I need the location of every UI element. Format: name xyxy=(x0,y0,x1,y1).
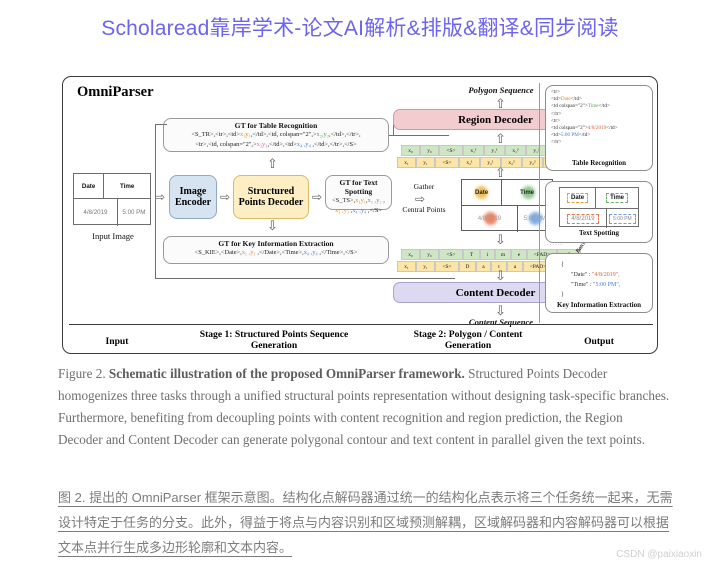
arrow-points-to-content-tokens: ⇩ xyxy=(495,233,506,246)
connector-bottom-feed xyxy=(155,278,455,279)
gt-table-recognition-line1: <S_TR>,<tr>,<td>x₁y₁,</td>,<td, colspan=… xyxy=(167,131,385,140)
kie-line-date: "Date" : "4/8/2019", xyxy=(555,270,647,280)
token: x₁¹ xyxy=(463,145,484,156)
caption-bold: Schematic illustration of the proposed O… xyxy=(109,366,465,381)
arrow-down-to-gt-kie: ⇩ xyxy=(267,219,278,232)
tr-line-3: <td colspan="2">Time</td> xyxy=(551,103,647,110)
point-cell-time-value-text: 5:00 PM xyxy=(524,216,546,222)
gather-label: Gather xyxy=(393,182,455,191)
token: y₁ xyxy=(416,261,435,272)
output-table-recognition-code: <tr> <td>Date</td> <td colspan="2">Time<… xyxy=(547,86,651,150)
spotting-chip-time: Time xyxy=(606,193,628,203)
structured-points-decoder-block: Structured Points Decoder xyxy=(233,175,309,219)
spotting-cell-time: Time xyxy=(596,188,638,209)
connector-spine-left xyxy=(155,124,156,279)
tr-line-4: </tr> xyxy=(551,111,647,118)
connector-right-table xyxy=(389,135,449,136)
arrow-spd-to-text-spotting: ⇨ xyxy=(312,191,322,203)
arrow-points-to-polygon-tokens: ⇧ xyxy=(495,166,506,179)
input-cell-date-header: Date xyxy=(74,174,104,199)
figure-caption: Figure 2. Schematic illustration of the … xyxy=(58,363,670,451)
spotting-chip-date: Date xyxy=(567,193,588,203)
token: y₁ xyxy=(416,157,435,168)
tr-line-5: <tr> xyxy=(551,118,647,125)
tr-line-1: <tr> xyxy=(551,89,647,96)
arrow-content-decoder-out: ⇩ xyxy=(495,304,506,317)
spd-label-line2: Points Decoder xyxy=(239,197,304,209)
input-image-table: Date Time 4/8/2019 5:00 PM xyxy=(73,173,151,225)
point-cell-date: Date xyxy=(462,180,502,206)
stage1-line1: Stage 1: Structured Points Sequence xyxy=(163,329,385,340)
token: <S> xyxy=(435,157,459,168)
token: <S> xyxy=(439,145,463,156)
arrow-gather: ⇨ xyxy=(415,193,425,205)
stage-label-input: Input xyxy=(75,336,159,347)
spotting-cell-time-value: 5:00 PM xyxy=(607,209,638,228)
central-points-label: Central Points xyxy=(389,205,459,214)
token: e xyxy=(511,249,527,260)
token: y₁¹ xyxy=(484,145,505,156)
content-sequence-label: Content Sequence xyxy=(401,317,601,327)
watermark: CSDN @paixiaoxin xyxy=(616,549,702,560)
gt-text-spotting-box: GT for Text Spotting <S_TS>,x₁y₁,x₂ ,y₂ … xyxy=(325,175,392,210)
caption-prefix: Figure 2. xyxy=(58,366,109,381)
output-table-recognition-caption: Table Recognition xyxy=(545,159,653,167)
token: x₁ xyxy=(397,157,416,168)
spotting-chip-date-value: 4/8/2019 xyxy=(567,214,598,224)
kie-close-brace: } xyxy=(555,290,647,300)
token: i xyxy=(480,249,495,260)
kie-line-time: "Time" : "5:00 PM", xyxy=(555,280,647,290)
token: a xyxy=(507,261,523,272)
spotting-cell-date-value: 4/8/2019 xyxy=(560,209,607,228)
token: y₁² xyxy=(526,145,547,156)
stage-label-output: Output xyxy=(557,336,641,347)
image-encoder-label-line1: Image xyxy=(180,186,207,198)
token: x₁ xyxy=(397,261,416,272)
token: m xyxy=(495,249,511,260)
tr-line-6: <td colspan="2">4/8/2019</td> xyxy=(551,125,647,132)
token: x₀ xyxy=(401,145,420,156)
gt-text-spotting-title: GT for Text Spotting xyxy=(329,178,388,196)
point-cell-date-value: 4/8/2019 xyxy=(462,206,518,232)
token: y₀ xyxy=(420,249,439,260)
input-cell-time-header: Time xyxy=(104,174,150,199)
kie-open-brace: { xyxy=(555,260,647,270)
tr-line-7: <td>5:00 PM</td> xyxy=(551,132,647,139)
spd-label-line1: Structured xyxy=(248,186,294,198)
figure-caption-chinese: 图 2. 提出的 OmniParser 框架示意图。结构化点解码器通过统一的结构… xyxy=(58,485,674,560)
spotting-cell-date: Date xyxy=(560,188,596,209)
point-cell-date-text: Date xyxy=(475,190,488,196)
token: <S> xyxy=(435,261,459,272)
output-kie-code: { "Date" : "4/8/2019", "Time" : "5:00 PM… xyxy=(551,257,651,303)
token: <S> xyxy=(439,249,463,260)
point-cell-date-value-text: 4/8/2019 xyxy=(478,216,501,222)
arrow-encoder-to-spd: ⇨ xyxy=(220,191,230,203)
image-encoder-label-line2: Encoder xyxy=(175,197,211,209)
input-image-caption: Input Image xyxy=(69,231,157,241)
input-cell-date-value: 4/8/2019 xyxy=(74,199,118,226)
token: x₂¹ xyxy=(459,157,480,168)
stage1-line2: Generation xyxy=(163,340,385,351)
arrow-up-to-gt-table: ⇧ xyxy=(267,157,278,170)
gt-table-recognition-box: GT for Table Recognition <S_TR>,<tr>,<td… xyxy=(163,118,389,152)
gt-kie-title: GT for Key Information Extraction xyxy=(167,239,385,248)
input-cell-time-value: 5:00 PM xyxy=(118,199,150,226)
gt-kie-line1: <S_KIE>,<Date>,x₁ ,y₁ ,</Date>,<Time>,x₄… xyxy=(167,249,385,258)
arrow-content-tokens-to-decoder: ⇩ xyxy=(495,269,506,282)
gt-text-spotting-line2: x₃ ,y₃ ,x₄ ,y₄ ,</S> xyxy=(329,207,388,216)
gt-kie-box: GT for Key Information Extraction <S_KIE… xyxy=(163,236,389,264)
token: x₁² xyxy=(505,145,526,156)
stage2-line2: Generation xyxy=(393,340,543,351)
output-kie-caption: Key Information Extraction xyxy=(543,301,655,309)
figure-heading: OmniParser xyxy=(77,84,154,101)
arrow-input-to-encoder: ⇨ xyxy=(155,191,165,203)
spotting-chip-time-value: 5:00 PM xyxy=(609,214,636,224)
point-cell-time-text: Time xyxy=(520,190,534,196)
output-column-divider xyxy=(539,83,540,323)
token: a xyxy=(476,261,491,272)
gt-text-spotting-line1: <S_TS>,x₁y₁,x₂ ,y₂ , xyxy=(329,197,388,206)
stage2-line1: Stage 2: Polygon / Content xyxy=(393,329,543,340)
token: x₀ xyxy=(401,249,420,260)
token: D xyxy=(459,261,476,272)
page-title: Scholaread靠岸学术-论文AI解析&排版&翻译&同步阅读 xyxy=(0,12,720,42)
gt-table-recognition-title: GT for Table Recognition xyxy=(167,121,385,130)
stage-label-divider xyxy=(69,324,653,325)
tr-line-8: </tr> xyxy=(551,139,647,146)
output-text-spotting-table: Date Time 4/8/2019 5:00 PM xyxy=(559,187,639,227)
stage-label-stage1: Stage 1: Structured Points Sequence Gene… xyxy=(163,329,385,351)
tr-line-2: <td>Date</td> xyxy=(551,96,647,103)
figure-container: OmniParser Date Time 4/8/2019 5:00 PM In… xyxy=(62,76,658,354)
content-tokens-ellipsis: ······ xyxy=(547,243,563,248)
connector-top-feed xyxy=(155,124,167,125)
token: y₀ xyxy=(420,145,439,156)
output-text-spotting-caption: Text Spotting xyxy=(545,229,653,237)
token: T xyxy=(463,249,480,260)
stage-label-stage2: Stage 2: Polygon / Content Generation xyxy=(393,329,543,351)
gt-table-recognition-line2: <tr>,<td, colspan="2",>x₃y₃,</td>,<td>x₄… xyxy=(167,141,385,150)
image-encoder-block: Image Encoder xyxy=(169,175,217,219)
arrow-into-region-decoder: ⇧ xyxy=(495,132,506,145)
